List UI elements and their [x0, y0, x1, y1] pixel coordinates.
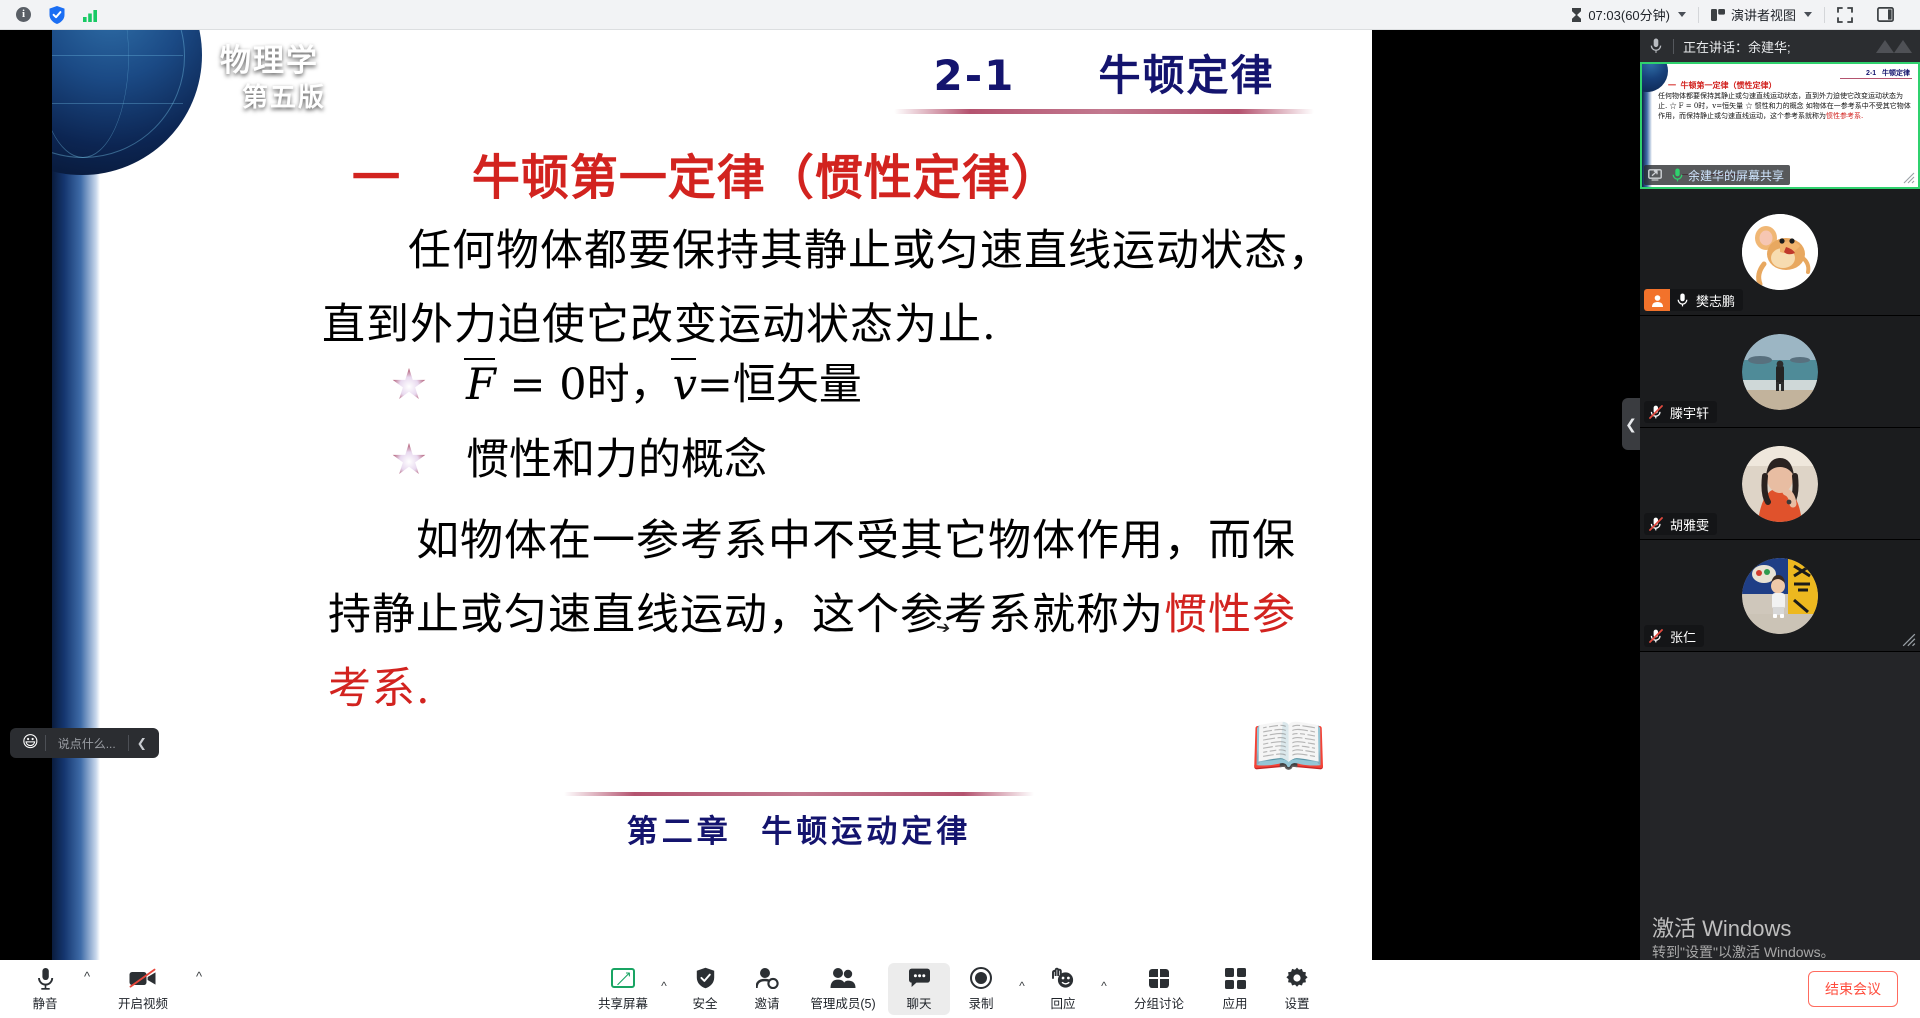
- star-bullet-icon: [392, 443, 426, 477]
- shared-screen-stage[interactable]: 物理学 第五版 2-1 牛顿定律 一 牛顿第一定律（惯性定律） 任何物体都要保持…: [0, 30, 1640, 960]
- emoji-smile-icon[interactable]: 😃: [16, 735, 45, 751]
- speaker-view-icon: [1711, 8, 1725, 22]
- split-view-button[interactable]: [1865, 4, 1906, 26]
- invite-label: 邀请: [754, 993, 779, 1012]
- chevron-up-icon: ^: [1019, 969, 1025, 993]
- mute-options-button[interactable]: ^ .: [76, 963, 98, 1015]
- manage-participants-button[interactable]: 管理成员(5): [798, 963, 888, 1015]
- reactions-label: 回应: [1050, 993, 1075, 1012]
- slide-footer-rule: [564, 792, 1034, 796]
- screen-share-icon: ⟶: [611, 966, 635, 990]
- chevron-left-icon[interactable]: ❮: [129, 736, 155, 750]
- mini-body-text: 任何物体都要保持其静止或匀速直线运动状态，直到外力迫使它改变运动状态为止. ☆ …: [1658, 92, 1911, 120]
- start-video-button[interactable]: 开启视频: [98, 963, 188, 1015]
- security-button[interactable]: 安全: [674, 963, 736, 1015]
- toolbar-center-group: ⟶ 共享屏幕 ^ . 安全: [592, 963, 1328, 1015]
- fullscreen-button[interactable]: [1825, 4, 1865, 26]
- apps-grid-icon: [1225, 966, 1246, 990]
- mute-button[interactable]: 静音: [14, 963, 76, 1015]
- share-screen-label: 共享屏幕: [598, 993, 648, 1012]
- microphone-muted-icon: [1644, 517, 1668, 531]
- slide-bullet-1: F = 0时，v=恒矢量: [392, 360, 862, 410]
- microphone-muted-icon: [1644, 629, 1668, 643]
- settings-label: 设置: [1284, 993, 1309, 1012]
- participant-name: 樊志鹏: [1694, 291, 1743, 310]
- chat-bubble-icon: [908, 966, 931, 990]
- mini-body-highlight: 惯性参考系.: [1826, 112, 1863, 120]
- reactions-options-button[interactable]: ^ .: [1094, 963, 1114, 1015]
- chevron-up-icon: ^: [84, 969, 90, 993]
- split-view-icon: [1877, 7, 1894, 22]
- shield-check-icon[interactable]: [49, 6, 65, 24]
- chevron-down-icon[interactable]: [1678, 12, 1686, 17]
- breakout-rooms-icon: [1148, 966, 1170, 990]
- participant-tile[interactable]: 滕宇轩: [1640, 316, 1920, 428]
- participant-tile[interactable]: 胡雅雯: [1640, 428, 1920, 540]
- invite-button[interactable]: 邀请: [736, 963, 798, 1015]
- bullet-1-mid: = 0时，: [496, 360, 673, 410]
- share-options-button[interactable]: ^ .: [654, 963, 674, 1015]
- watermark-line-1: 激活 Windows: [1652, 916, 1835, 942]
- presentation-slide: 物理学 第五版 2-1 牛顿定律 一 牛顿第一定律（惯性定律） 任何物体都要保持…: [52, 30, 1372, 960]
- hourglass-icon: [1571, 8, 1582, 22]
- zoom-logo-icon: [1874, 36, 1914, 56]
- windows-activation-watermark: 激活 Windows 转到"设置"以激活 Windows。: [1652, 916, 1835, 962]
- resize-grip-icon[interactable]: [1903, 172, 1915, 184]
- slide-title-text: 2-1 牛顿定律: [894, 42, 1314, 103]
- vector-v: v: [673, 360, 697, 410]
- avatar: [1742, 214, 1818, 290]
- woman-photo-avatar: [1742, 446, 1818, 522]
- jerry-mouse-avatar: [1742, 214, 1818, 290]
- chevron-down-icon[interactable]: [1804, 12, 1812, 17]
- fullscreen-icon: [1837, 7, 1853, 23]
- participant-name: 胡雅雯: [1668, 515, 1717, 534]
- avatar: [1742, 334, 1818, 410]
- globe-graphic: [52, 30, 202, 175]
- panel-collapse-button[interactable]: ❮: [1622, 398, 1640, 450]
- breakout-rooms-label: 分组讨论: [1134, 993, 1184, 1012]
- microphone-muted-icon: [1644, 405, 1668, 419]
- participant-name: 张仁: [1668, 627, 1704, 646]
- bullet-1-suffix: =恒矢量: [697, 360, 862, 410]
- info-icon[interactable]: i: [16, 7, 31, 22]
- vector-F: F: [466, 360, 496, 410]
- slide-bullet-1-text: F = 0时，v=恒矢量: [466, 360, 862, 410]
- start-video-button-label: 开启视频: [118, 993, 168, 1012]
- apps-button[interactable]: 应用: [1204, 963, 1266, 1015]
- chevron-up-icon: ^: [196, 969, 202, 993]
- book-title: 物理学 第五版: [220, 42, 440, 114]
- active-speaker-label: 正在讲话：余建华;: [1683, 37, 1791, 56]
- microphone-active-icon: [1666, 168, 1688, 182]
- meeting-toolbar: 静音 ^ . 开启视频 ^ . ⟶ 共享屏幕: [0, 960, 1920, 1018]
- slide-paragraph-2-plain: 如物体在一参考系中不受其它物体作用，而保持静止或匀速直线运动，这个参考系就称为: [328, 516, 1296, 640]
- signal-bars-icon[interactable]: [83, 8, 101, 22]
- chat-label: 聊天: [906, 993, 931, 1012]
- participants-panel: 正在讲话：余建华; 2-1 牛顿定律 一 牛顿第一定律（惯性定律） 任何物体都要…: [1640, 30, 1920, 960]
- mute-button-label: 静音: [32, 993, 57, 1012]
- screen-share-icon: [1644, 169, 1666, 181]
- active-speaker-bar: 正在讲话：余建华;: [1640, 30, 1920, 62]
- participant-name-chip: 张仁: [1644, 625, 1704, 647]
- participant-name-chip: 滕宇轩: [1644, 401, 1717, 423]
- top-bar-right-controls: 07:03(60分钟) 演讲者视图: [1559, 4, 1920, 26]
- share-screen-button[interactable]: ⟶ 共享屏幕: [592, 963, 654, 1015]
- record-options-button[interactable]: ^ .: [1012, 963, 1032, 1015]
- view-mode-label: 演讲者视图: [1731, 5, 1796, 24]
- slide-title: 2-1 牛顿定律: [894, 42, 1314, 114]
- reactions-hand-icon: [1051, 966, 1075, 990]
- participants-icon: [830, 966, 856, 990]
- book-title-line2: 第五版: [220, 80, 440, 114]
- mouse-cursor: ➔: [935, 617, 952, 639]
- microphone-icon: [1670, 293, 1694, 307]
- top-bar-left-icons: i: [0, 6, 101, 24]
- end-meeting-button[interactable]: 结束会议: [1808, 971, 1898, 1007]
- participant-name-chip: 樊志鹏: [1644, 289, 1743, 311]
- star-bullet-icon: [392, 368, 426, 402]
- share-owner-label: 余建华的屏幕共享: [1688, 167, 1784, 184]
- settings-button[interactable]: 设置: [1266, 963, 1328, 1015]
- slide-paragraph-1: 任何物体都要保持其静止或匀速直线运动状态，直到外力迫使它改变运动状态为止.: [322, 214, 1332, 362]
- child-photo-avatar: [1742, 558, 1818, 634]
- microphone-icon: [1648, 38, 1664, 54]
- record-icon: [970, 966, 992, 990]
- record-button[interactable]: 录制: [950, 963, 1012, 1015]
- participant-name: 滕宇轩: [1668, 403, 1717, 422]
- chat-input-placeholder[interactable]: 说点什么...: [46, 735, 128, 752]
- chat-button[interactable]: 聊天: [888, 963, 950, 1015]
- slide-paragraph-2: 如物体在一参考系中不受其它物体作用，而保持静止或匀速直线运动，这个参考系就称为惯…: [328, 504, 1328, 726]
- divider: [1673, 39, 1674, 54]
- apps-label: 应用: [1222, 993, 1247, 1012]
- record-label: 录制: [968, 993, 993, 1012]
- host-badge-icon: [1644, 289, 1670, 311]
- manage-participants-label: 管理成员(5): [810, 993, 875, 1012]
- meeting-timer-label: 07:03(60分钟): [1588, 5, 1670, 24]
- microphone-icon: [37, 966, 54, 990]
- book-title-line1: 物理学: [220, 42, 440, 80]
- avatar: [1742, 446, 1818, 522]
- mini-slide-body: 任何物体都要保持其静止或匀速直线运动状态，直到外力迫使它改变运动状态为止. ☆ …: [1658, 91, 1912, 121]
- reactions-button[interactable]: 回应: [1032, 963, 1094, 1015]
- breakout-rooms-button[interactable]: 分组讨论: [1114, 963, 1204, 1015]
- top-bar: i 07:03(60分钟) 演讲者视图: [0, 0, 1920, 30]
- beach-photo-avatar: [1742, 334, 1818, 410]
- chevron-up-icon: ^: [661, 969, 667, 993]
- security-label: 安全: [692, 993, 717, 1012]
- slide-footer-text: 第二章 牛顿运动定律: [564, 806, 1034, 851]
- meeting-timer[interactable]: 07:03(60分钟): [1559, 4, 1698, 26]
- view-mode-selector[interactable]: 演讲者视图: [1699, 4, 1824, 26]
- avatar: [1742, 558, 1818, 634]
- participant-tile[interactable]: 张仁: [1640, 540, 1920, 652]
- chevron-up-icon: ^: [1101, 969, 1107, 993]
- resize-grip-icon[interactable]: [1902, 633, 1916, 647]
- gear-icon: [1286, 966, 1308, 990]
- participant-name-chip: 胡雅雯: [1644, 513, 1717, 535]
- participant-tile[interactable]: 樊志鹏: [1640, 189, 1920, 316]
- slide-bullet-2: 惯性和力的概念: [392, 435, 767, 485]
- mini-slide-heading: 一 牛顿第一定律（惯性定律）: [1668, 80, 1776, 91]
- chat-input-bar[interactable]: 😃 说点什么... ❮: [10, 728, 159, 758]
- slide-heading: 一 牛顿第一定律（惯性定律）: [352, 138, 1060, 208]
- camera-off-icon: [129, 966, 157, 990]
- invite-person-icon: [756, 966, 779, 990]
- slide-title-rule: [894, 109, 1314, 114]
- open-book-icon: 📖: [1250, 716, 1320, 778]
- share-label-chip: 余建华的屏幕共享: [1644, 165, 1790, 185]
- shield-icon: [696, 966, 715, 990]
- mini-slide-title: 2-1 牛顿定律: [1866, 68, 1910, 78]
- watermark-line-2: 转到"设置"以激活 Windows。: [1652, 942, 1835, 962]
- toolbar-left-group: 静音 ^ . 开启视频 ^ .: [0, 963, 210, 1015]
- toolbar-right-group: 结束会议: [1808, 971, 1920, 1007]
- video-options-button[interactable]: ^ .: [188, 963, 210, 1015]
- share-thumbnail-tile[interactable]: 2-1 牛顿定律 一 牛顿第一定律（惯性定律） 任何物体都要保持其静止或匀速直线…: [1640, 62, 1920, 189]
- slide-bullet-2-text: 惯性和力的概念: [466, 435, 767, 485]
